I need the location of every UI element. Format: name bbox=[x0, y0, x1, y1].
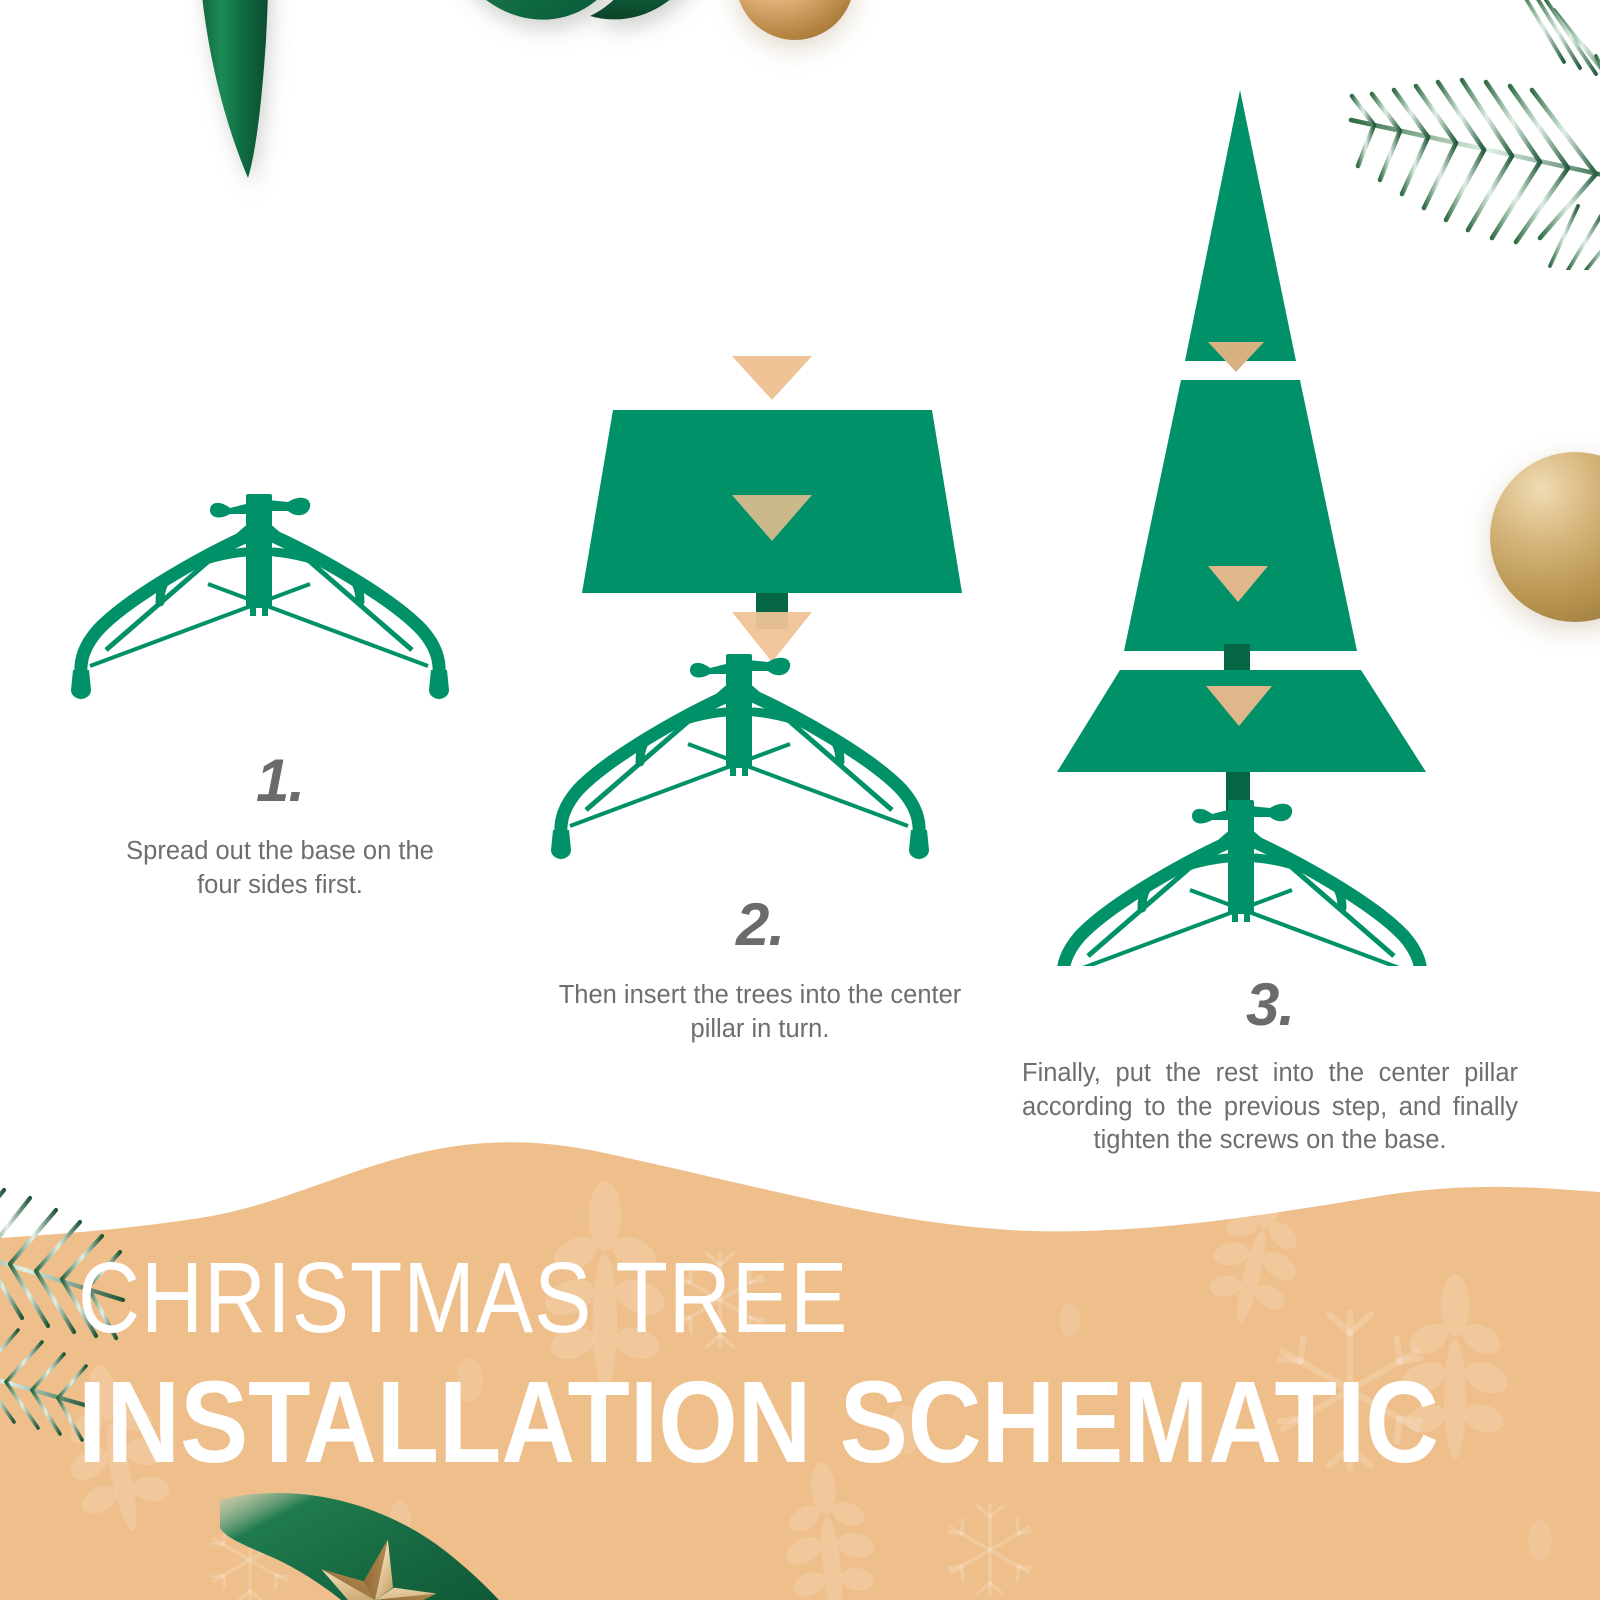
step-3-text: Finally, put the rest into the center pi… bbox=[1000, 1057, 1540, 1158]
step-1: 1. Spread out the base on the four sides… bbox=[60, 480, 500, 902]
ornament-ball-top bbox=[736, 0, 854, 40]
arrow-down-top bbox=[732, 356, 812, 400]
gold-star-decoration bbox=[300, 1520, 450, 1600]
step-3: 3. Finally, put the rest into the center… bbox=[1000, 86, 1540, 1158]
step-1-diagram bbox=[60, 480, 500, 715]
title-line-2: INSTALLATION SCHEMATIC bbox=[78, 1364, 1372, 1480]
ribbon-decoration-top-left bbox=[120, 0, 840, 260]
step-2-text: Then insert the trees into the center pi… bbox=[520, 979, 1000, 1046]
step-1-text: Spread out the base on the four sides fi… bbox=[60, 835, 500, 902]
step-1-number: 1. bbox=[60, 751, 500, 811]
step-3-number: 3. bbox=[1000, 975, 1540, 1035]
assembled-tree bbox=[1057, 90, 1426, 812]
infographic-canvas: 1. Spread out the base on the four sides… bbox=[0, 0, 1600, 1600]
headline: CHRISTMAS TREE INSTALLATION SCHEMATIC bbox=[78, 1248, 1548, 1480]
step-2: 2. Then insert the trees into the center… bbox=[520, 340, 1000, 1046]
title-line-1: CHRISTMAS TREE bbox=[78, 1248, 1342, 1348]
step-3-diagram bbox=[1000, 86, 1540, 971]
step-2-diagram bbox=[520, 340, 1000, 865]
step-2-number: 2. bbox=[520, 895, 1000, 955]
ribbon-decoration-bottom-left bbox=[40, 1480, 660, 1600]
